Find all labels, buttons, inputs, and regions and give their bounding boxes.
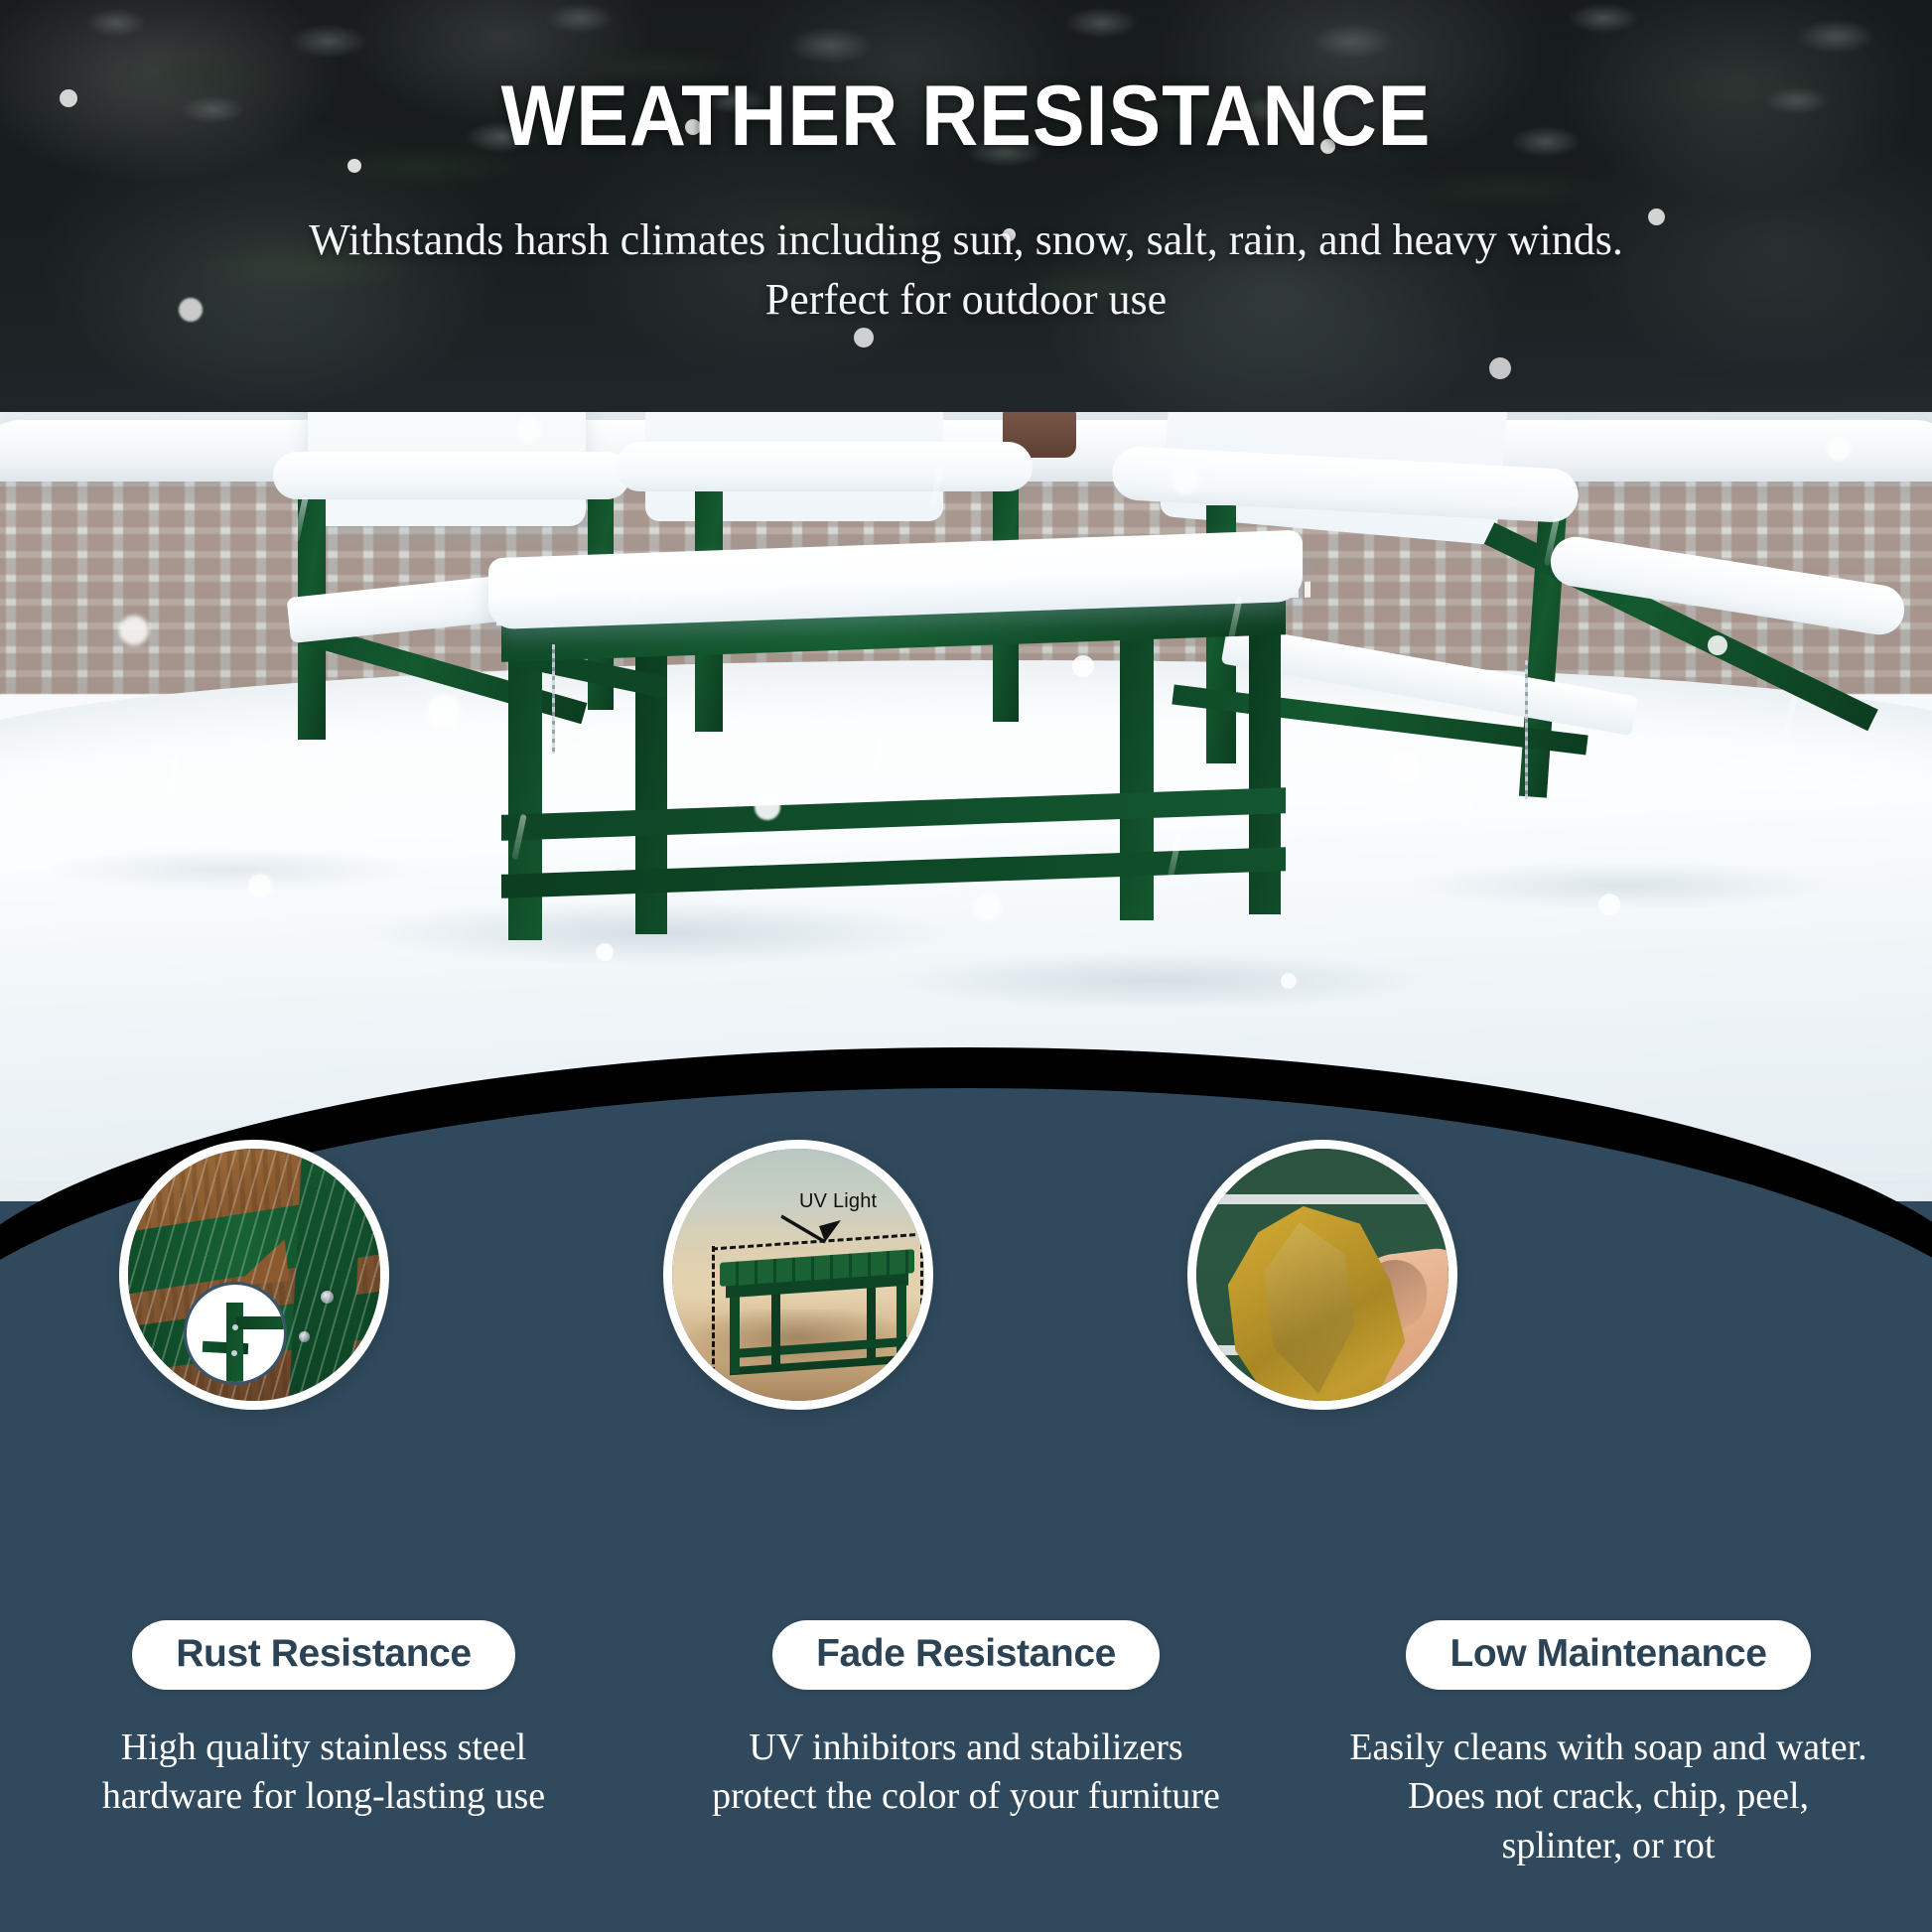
uv-dashed-guide-left <box>712 1246 715 1373</box>
description-rust-resistance: High quality stainless steel hardware fo… <box>16 1724 631 1822</box>
screw-joint-detail-inset <box>184 1282 287 1385</box>
feature-column-fade-resistance: Fade Resistance UV inhibitors and stabil… <box>658 1620 1274 1822</box>
table-shadow-on-sand <box>672 1310 924 1401</box>
badge-low-maintenance[interactable]: Low Maintenance <box>1406 1620 1810 1690</box>
beach-table-leg <box>771 1294 780 1369</box>
feature-column-low-maintenance: Low Maintenance Easily cleans with soap … <box>1301 1620 1916 1870</box>
inset-screw-icon <box>231 1350 237 1356</box>
feature-image-fade-resistance: UV Light <box>663 1140 933 1410</box>
beach-table-leg <box>867 1286 876 1363</box>
badge-fade-resistance[interactable]: Fade Resistance <box>772 1620 1160 1690</box>
description-fade-resistance: UV inhibitors and stabilizers protect th… <box>658 1724 1274 1822</box>
left-chair-armrest <box>273 452 630 499</box>
middle-chair-armrest <box>616 442 1033 491</box>
inset-screw-icon <box>232 1324 238 1330</box>
beach-table-leg <box>730 1290 740 1373</box>
page-subtitle: Withstands harsh climates including sun,… <box>251 210 1681 330</box>
feature-column-rust-resistance: Rust Resistance High quality stainless s… <box>16 1620 631 1822</box>
left-chair-chain <box>552 644 555 754</box>
inset-post <box>226 1303 243 1384</box>
hero-photo <box>0 0 1932 1201</box>
badge-rust-resistance[interactable]: Rust Resistance <box>132 1620 514 1690</box>
feature-image-low-maintenance <box>1187 1140 1457 1410</box>
tabletop-seam <box>1196 1194 1449 1204</box>
beach-table-leg <box>897 1280 906 1363</box>
uv-light-arrow-icon <box>779 1214 845 1250</box>
description-low-maintenance: Easily cleans with soap and water. Does … <box>1301 1724 1916 1870</box>
infographic-canvas: UV Light WEATHER RESISTANCE Withstands h… <box>0 0 1932 1932</box>
uv-dashed-guide-right <box>920 1234 923 1359</box>
feature-image-rust-resistance <box>119 1140 389 1410</box>
inset-rail-right <box>236 1316 287 1329</box>
right-chair-chain <box>1525 660 1528 799</box>
page-title: WEATHER RESISTANCE <box>77 68 1855 166</box>
uv-light-label: UV Light <box>799 1190 877 1213</box>
